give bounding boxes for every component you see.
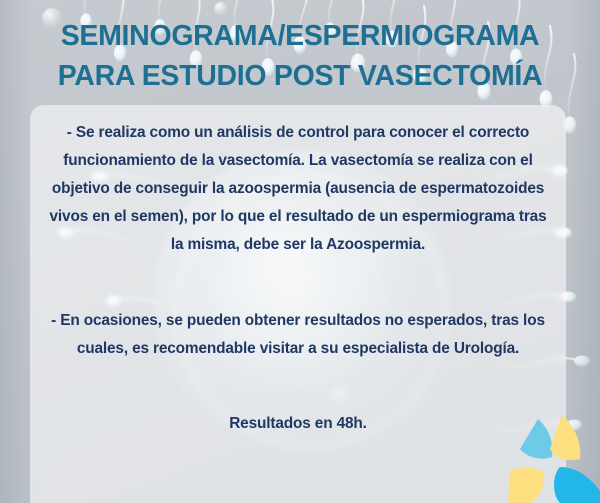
infographic-poster: SEMINOGRAMA/ESPERMIOGRAMA PARA ESTUDIO P… [0,0,600,503]
clinic-logo-icon [504,411,600,503]
paragraph-unexpected-results: - En ocasiones, se pueden obtener result… [30,307,566,363]
title-line-1: SEMINOGRAMA/ESPERMIOGRAMA [0,16,600,56]
paragraph-vasectomy-control: - Se realiza como un análisis de control… [30,119,566,259]
title-line-2: PARA ESTUDIO POST VASECTOMÍA [0,56,600,96]
bubble-icon [214,2,228,16]
content-text-block: - Se realiza como un análisis de control… [30,105,566,503]
poster-title: SEMINOGRAMA/ESPERMIOGRAMA PARA ESTUDIO P… [0,16,600,96]
results-turnaround-text: Resultados en 48h. [30,415,566,433]
